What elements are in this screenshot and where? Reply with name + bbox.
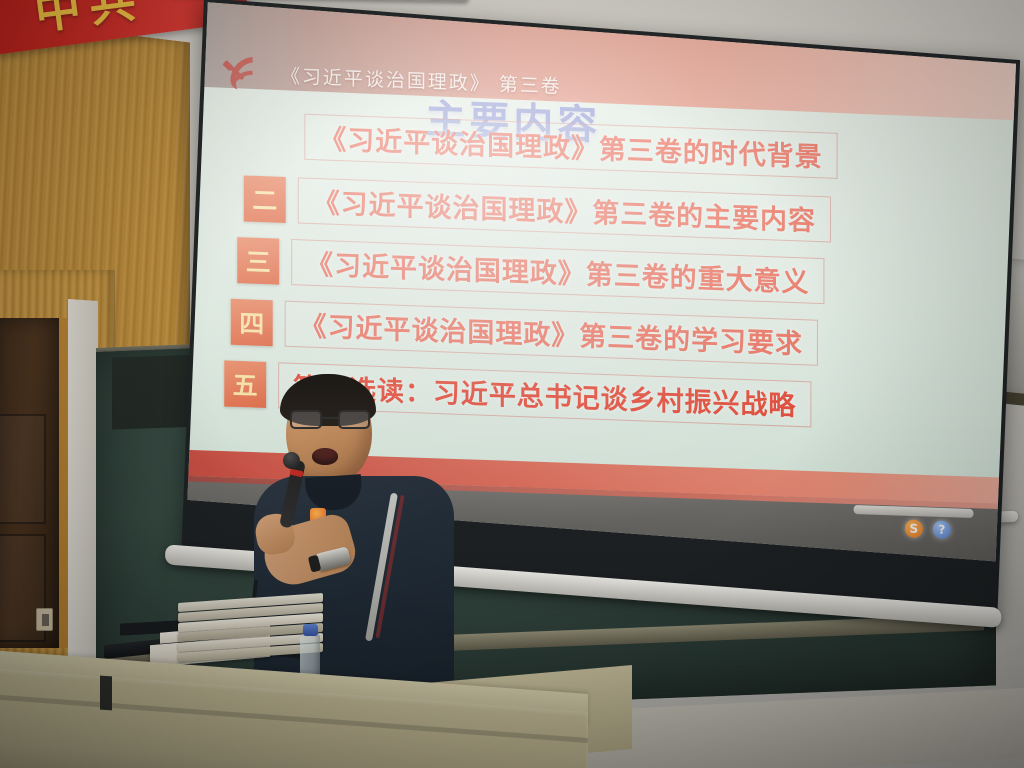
list-item-label: 《习近平谈治国理政》第三卷的时代背景 — [319, 117, 822, 174]
light-switch[interactable] — [36, 608, 53, 631]
water-bottle[interactable] — [300, 634, 320, 678]
glasses-icon — [290, 410, 370, 430]
list-item-label: 《习近平谈治国理政》第三卷的重大意义 — [306, 242, 809, 299]
wall-strip — [68, 299, 98, 671]
list-item[interactable]: 四 《习近平谈治国理政》第三卷的学习要求 — [231, 299, 818, 366]
water-bottle-cap — [303, 624, 318, 636]
classroom-door[interactable] — [0, 318, 70, 648]
help-icon[interactable]: ? — [933, 520, 951, 539]
list-item[interactable]: 三 《习近平谈治国理政》第三卷的重大意义 — [237, 237, 824, 304]
podium-slot — [100, 676, 112, 711]
mouth — [312, 448, 338, 465]
door-panel-upper — [0, 414, 46, 524]
lecture-hall-photo: 中共 《习近平谈治国理政》 第三卷 主要内容 — [0, 0, 1024, 768]
list-item-badge: 四 — [231, 299, 273, 347]
list-item[interactable]: 一 《习近平谈治国理政》第三卷的时代背景 — [250, 112, 837, 179]
glasses-right-lens — [338, 410, 370, 429]
list-item-box: 《习近平谈治国理政》第三卷的重大意义 — [291, 239, 824, 304]
glasses-left-lens — [290, 410, 322, 429]
list-item-label: 《习近平谈治国理政》第三卷的学习要求 — [300, 304, 803, 361]
system-tray: S ? — [905, 519, 951, 539]
list-item-label: 《习近平谈治国理政》第三卷的主要内容 — [313, 180, 816, 237]
list-item-badge: 二 — [244, 175, 286, 223]
sogou-ime-icon[interactable]: S — [905, 519, 923, 538]
list-item[interactable]: 二 《习近平谈治国理政》第三卷的主要内容 — [244, 175, 831, 242]
list-item-badge: 三 — [237, 237, 279, 285]
list-item-box: 《习近平谈治国理政》第三卷的学习要求 — [285, 301, 818, 366]
glasses-bridge — [322, 417, 338, 419]
list-item-box: 《习近平谈治国理政》第三卷的时代背景 — [304, 114, 837, 179]
list-item-box: 《习近平谈治国理政》第三卷的主要内容 — [298, 177, 831, 242]
